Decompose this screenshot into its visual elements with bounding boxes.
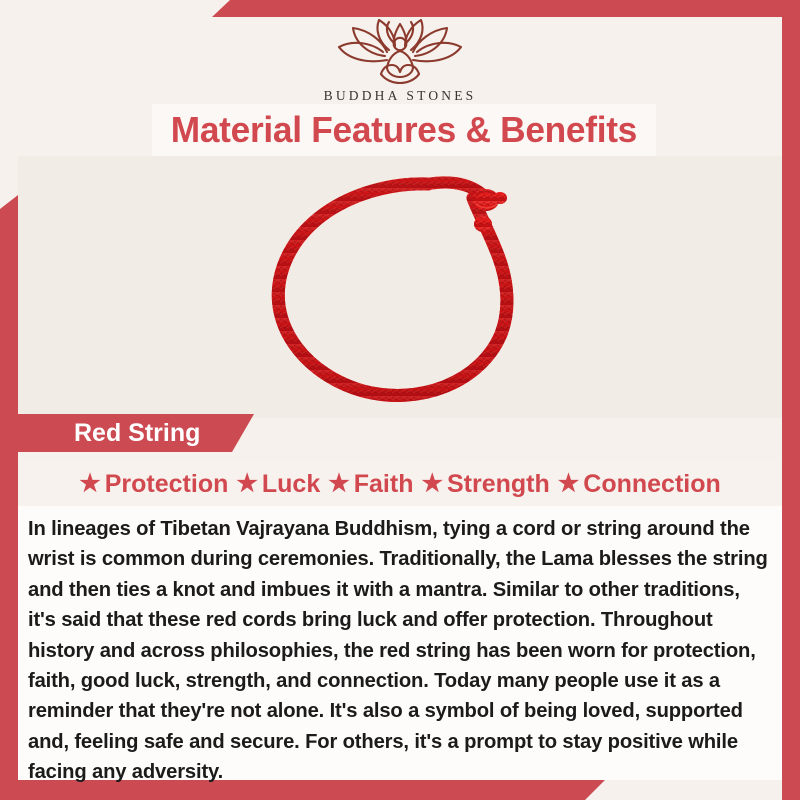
- benefit-item-connection: ★ Connection: [558, 470, 721, 499]
- benefit-item-strength: ★ Strength: [421, 470, 549, 499]
- star-icon: ★: [236, 472, 258, 496]
- decor-bar-left: [0, 195, 18, 780]
- benefit-label: Connection: [583, 470, 721, 499]
- product-name-ribbon: Red String: [18, 414, 254, 452]
- benefit-label: Faith: [354, 470, 414, 499]
- benefit-label: Luck: [262, 470, 320, 499]
- product-name-label: Red String: [74, 419, 200, 448]
- description-text: In lineages of Tibetan Vajrayana Buddhis…: [28, 514, 768, 788]
- brand-name: BUDDHA STONES: [324, 88, 477, 104]
- brand-logo: BUDDHA STONES: [0, 14, 800, 104]
- infographic-page: BUDDHA STONES Material Features & Benefi…: [0, 0, 800, 800]
- title-banner: Material Features & Benefits: [152, 104, 656, 156]
- decor-bar-right: [782, 0, 800, 800]
- product-image-area: [18, 156, 782, 418]
- star-icon: ★: [421, 472, 443, 496]
- lotus-meditation-icon: [325, 14, 475, 86]
- star-icon: ★: [328, 472, 350, 496]
- description-panel: In lineages of Tibetan Vajrayana Buddhis…: [18, 506, 782, 780]
- benefit-label: Protection: [105, 470, 229, 499]
- star-icon: ★: [79, 472, 101, 496]
- benefit-item-luck: ★ Luck: [236, 470, 320, 499]
- page-title: Material Features & Benefits: [171, 109, 637, 151]
- benefit-item-faith: ★ Faith: [328, 470, 413, 499]
- benefit-item-protection: ★ Protection: [79, 470, 228, 499]
- benefit-label: Strength: [447, 470, 550, 499]
- benefits-list: ★ Protection ★ Luck ★ Faith ★ Strength ★…: [18, 462, 782, 506]
- red-braided-string-bracelet-image: [245, 162, 555, 412]
- star-icon: ★: [558, 472, 580, 496]
